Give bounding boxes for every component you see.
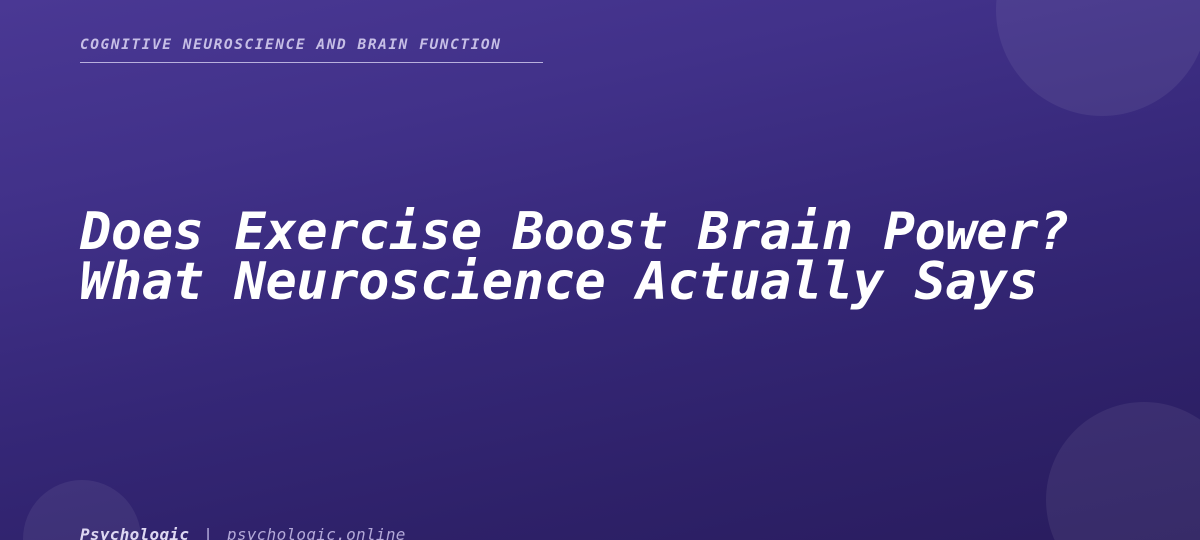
decorative-circle-top-right (996, 0, 1200, 116)
headline-block: Does Exercise Boost Brain Power? What Ne… (80, 207, 1090, 307)
headline-line-2: What Neuroscience Actually Says (80, 257, 1090, 307)
title-card: COGNITIVE NEUROSCIENCE AND BRAIN FUNCTIO… (0, 0, 1200, 540)
headline-line-1: Does Exercise Boost Brain Power? (80, 207, 1090, 257)
footer-brand-name: Psychologic (80, 525, 189, 540)
kicker-block: COGNITIVE NEUROSCIENCE AND BRAIN FUNCTIO… (80, 36, 543, 63)
category-kicker: COGNITIVE NEUROSCIENCE AND BRAIN FUNCTIO… (80, 36, 543, 56)
footer-attribution: Psychologic | psychologic.online (80, 525, 406, 540)
kicker-underline-rule (80, 62, 543, 64)
footer-site-url: psychologic.online (227, 525, 406, 540)
decorative-circle-bottom-right (1046, 402, 1200, 540)
footer-separator: | (189, 525, 227, 540)
